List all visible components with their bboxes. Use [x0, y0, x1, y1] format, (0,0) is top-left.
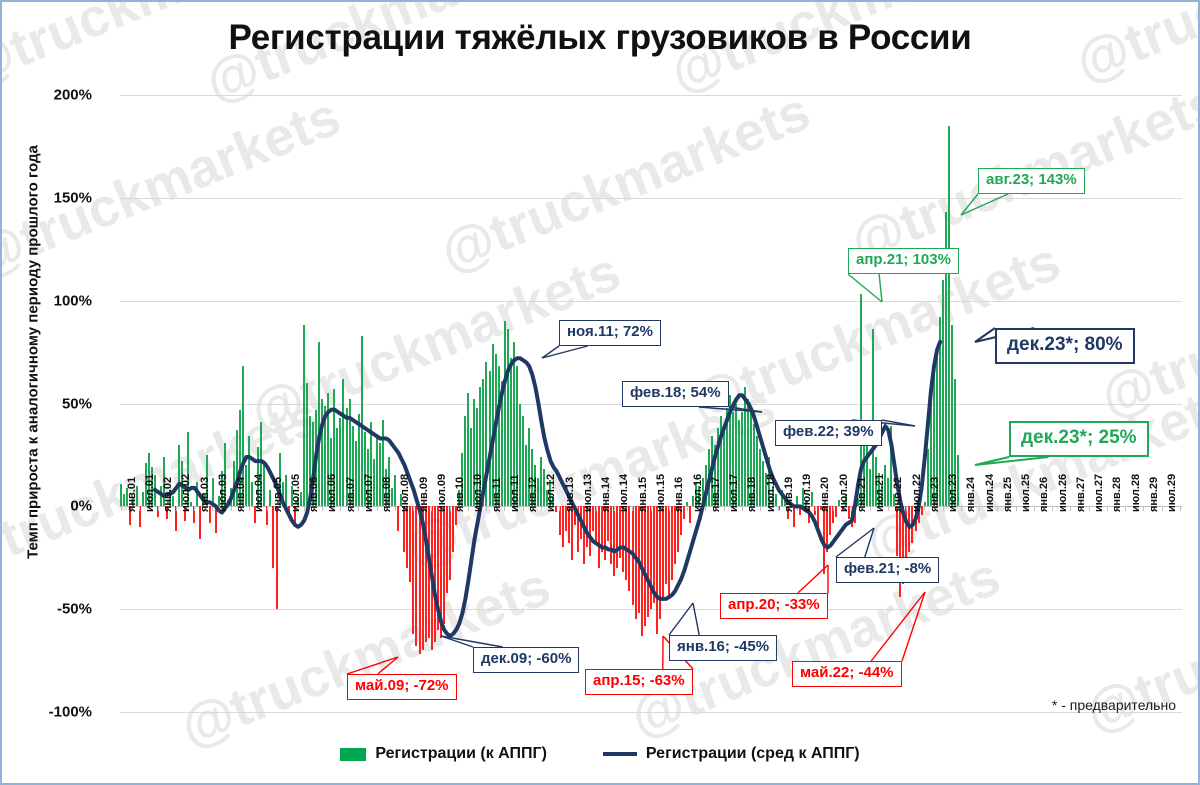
gridline--100	[120, 712, 1182, 713]
legend-label-bars: Регистрации (к АППГ)	[375, 745, 547, 763]
footnote: * - предварительно	[1052, 697, 1176, 713]
annotation-apr-15: апр.15; -63%	[585, 669, 693, 695]
annotation-avg-23: авг.23; 143%	[978, 168, 1085, 194]
y-axis-title-label: Темп прироста к аналогичному периоду про…	[25, 145, 42, 559]
page-title: Регистрации тяжёлых грузовиков в России	[2, 18, 1198, 58]
navy-line-icon	[603, 752, 637, 756]
legend-item-line[interactable]: Регистрации (сред к АППГ)	[603, 745, 860, 763]
y-tick-label: 0%	[16, 498, 92, 515]
y-tick-label: -100%	[16, 704, 92, 721]
annotation-apr-21: апр.21; 103%	[848, 248, 959, 274]
y-tick-label: 200%	[16, 87, 92, 104]
chart-legend: Регистрации (к АППГ) Регистрации (сред к…	[2, 745, 1198, 763]
annotation-dek-23-bar: дек.23*; 25%	[1009, 421, 1149, 457]
annotation-may-09: май.09; -72%	[347, 674, 457, 700]
chart-window: @truckmarkets@truckmarkets@truckmarkets@…	[0, 0, 1200, 785]
y-tick-label: 150%	[16, 189, 92, 206]
y-axis-title: Темп прироста к аналогичному периоду про…	[22, 92, 44, 612]
y-tick-label: -50%	[16, 601, 92, 618]
annotation-dek-23-line: дек.23*; 80%	[995, 328, 1135, 364]
legend-label-line: Регистрации (сред к АППГ)	[646, 745, 860, 763]
annotation-dek-09: дек.09; -60%	[473, 647, 579, 673]
annotation-fev-22: фев.22; 39%	[775, 420, 882, 446]
legend-item-bars[interactable]: Регистрации (к АППГ)	[340, 745, 547, 763]
y-tick-label: 50%	[16, 395, 92, 412]
green-square-icon	[340, 748, 366, 761]
y-tick-label: 100%	[16, 292, 92, 309]
annotation-fev-18: фев.18; 54%	[622, 381, 729, 407]
annotation-noya-11: ноя.11; 72%	[559, 320, 661, 346]
annotation-may-22: май.22; -44%	[792, 661, 902, 687]
annotation-fev-21: фев.21; -8%	[836, 557, 939, 583]
annotation-apr-20: апр.20; -33%	[720, 593, 828, 619]
annotation-yanv-16: янв.16; -45%	[669, 635, 777, 661]
